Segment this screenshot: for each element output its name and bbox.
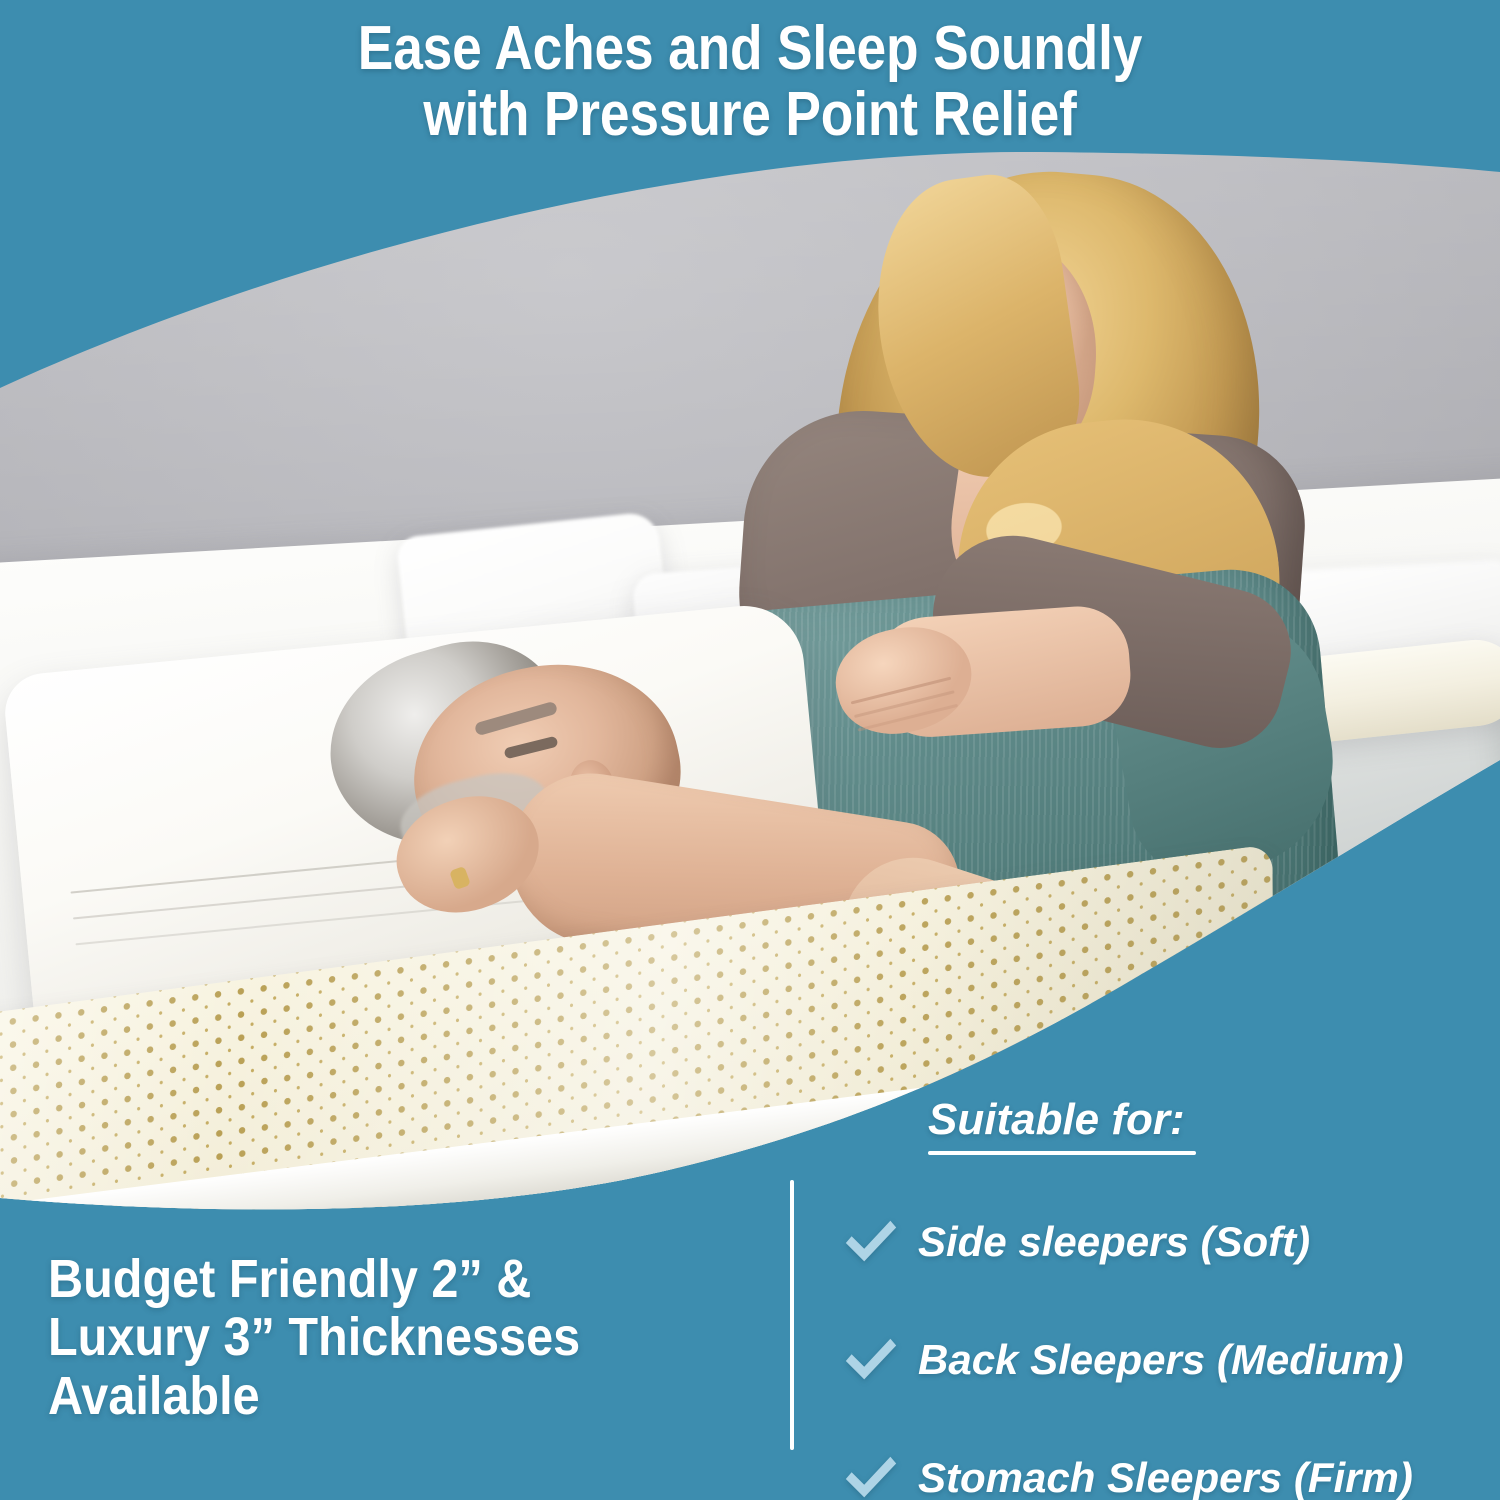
list-item: Back Sleepers (Medium) [840,1314,1480,1406]
headline: Ease Aches and Sleep Soundly with Pressu… [105,16,1395,147]
suitable-for-label: Suitable for: [928,1095,1185,1144]
suitable-for-heading: Suitable for: [928,1098,1196,1155]
sleeper-type-label: Back Sleepers (Medium) [918,1339,1404,1381]
sleeper-type-list: Side sleepers (Soft) Back Sleepers (Medi… [840,1196,1480,1500]
product-banner: Ease Aches and Sleep Soundly with Pressu… [0,0,1500,1500]
check-icon [840,1447,902,1500]
sleeper-type-label: Side sleepers (Soft) [918,1221,1310,1263]
sleeper-type-label: Stomach Sleepers (Firm) [918,1457,1413,1499]
headline-line-1: Ease Aches and Sleep Soundly [358,14,1142,83]
thickness-line-2: Luxury 3” Thicknesses [48,1308,696,1366]
check-icon [840,1329,902,1391]
check-icon [840,1211,902,1273]
suitable-for-underline [928,1151,1196,1155]
list-item: Stomach Sleepers (Firm) [840,1432,1480,1500]
vertical-divider [790,1180,794,1450]
thickness-line-3: Available [48,1367,696,1425]
thickness-callout: Budget Friendly 2” & Luxury 3” Thickness… [48,1250,696,1425]
thickness-line-1: Budget Friendly 2” & [48,1250,696,1308]
headline-line-2: with Pressure Point Relief [105,82,1395,148]
list-item: Side sleepers (Soft) [840,1196,1480,1288]
